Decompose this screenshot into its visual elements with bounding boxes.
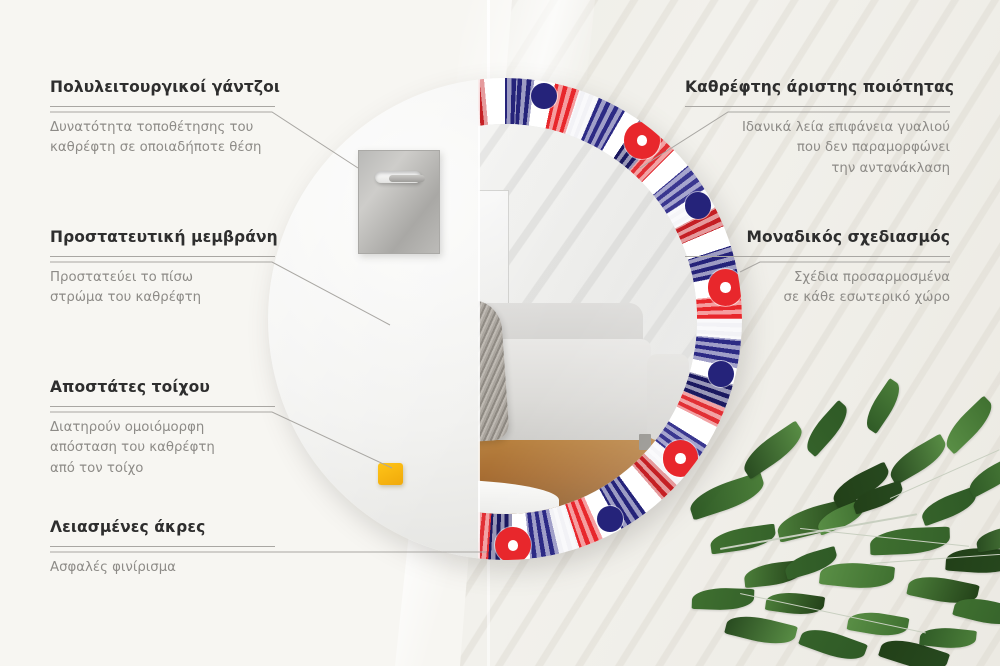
mirror-circle [268,78,742,560]
frame-flower [531,83,557,110]
callout-title: Πολυλειτουργικοί γάντζοι [50,78,275,97]
callout-rule [50,256,275,257]
callout-rule [50,106,275,107]
callout-description: Διατηρούν ομοιόμορφηαπόσταση του καθρέφτ… [50,418,275,480]
hook-slot-inner-icon [389,175,425,182]
plant-leaf [965,454,1000,498]
callout-description: Δυνατότητα τοποθέτησης τουκαθρέφτη σε οπ… [50,118,275,159]
callout-title: Αποστάτες τοίχου [50,378,275,397]
callout-description: Ιδανικά λεία επιφάνεια γυαλιούπου δεν πα… [685,118,950,180]
callout-smoothed-edges: Λειασμένες άκρες Ασφαλές φινίρισμα [50,518,275,578]
plant-leaf [724,610,798,650]
callout-title: Προστατευτική μεμβράνη [50,228,275,247]
plant-leaf [765,589,825,618]
hook-plate [358,150,440,254]
plant-leaf [939,396,999,455]
callout-protective-membrane: Προστατευτική μεμβράνη Προστατεύει το πί… [50,228,275,309]
callout-description: Ασφαλές φινίρισμα [50,558,275,579]
callout-rule [50,406,275,407]
wall-spacer [378,463,403,485]
plant-leaf [870,527,951,556]
plant-leaf [692,587,755,611]
callout-title: Μοναδικός σχεδιασμός [685,228,950,247]
callout-multifunctional-hooks: Πολυλειτουργικοί γάντζοι Δυνατότητα τοπο… [50,78,275,159]
callout-description: Προστατεύει το πίσωστρώμα του καθρέφτη [50,268,275,309]
plant-leaf [860,378,907,434]
frame-flower [708,361,734,388]
callout-wall-spacers: Αποστάτες τοίχου Διατηρούν ομοιόμορφηαπό… [50,378,275,479]
callout-description: Σχέδια προσαρμοσμένασε κάθε εσωτερικό χώ… [685,268,950,309]
callout-rule [685,256,950,257]
plant-leaf [885,434,952,486]
mirror-product [268,78,742,560]
callout-unique-design: Μοναδικός σχεδιασμός Σχέδια προσαρμοσμέν… [685,228,950,309]
plant-leaf [975,523,1000,552]
plant-leaf [737,420,808,479]
callout-title: Καθρέφτης άριστης ποιότητας [685,78,950,97]
callout-rule [685,106,950,107]
reflection-sofa-arm-right [647,354,689,440]
frame-flower-center [508,540,518,551]
callout-top-quality-mirror: Καθρέφτης άριστης ποιότητας Ιδανικά λεία… [685,78,950,179]
callout-rule [50,546,275,547]
plant-leaf [847,608,910,640]
infographic-canvas: Πολυλειτουργικοί γάντζοι Δυνατότητα τοπο… [0,0,1000,666]
plant-leaf [800,400,854,457]
plant-leaf [819,559,895,592]
callout-title: Λειασμένες άκρες [50,518,275,537]
mirror-split-seam [478,78,480,560]
reflection-sofa-leg-right [639,434,651,450]
